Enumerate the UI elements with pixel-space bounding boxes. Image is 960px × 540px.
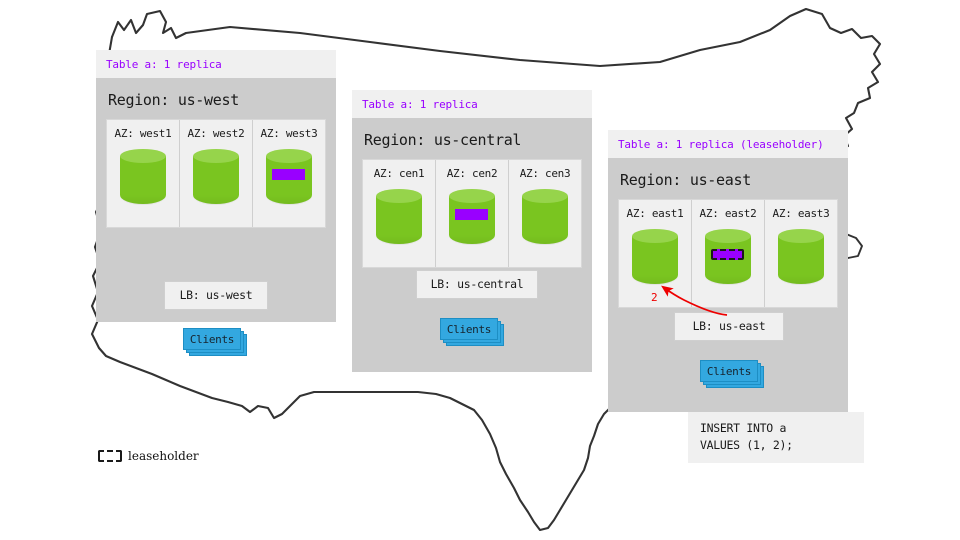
panel-title-us-west: Table a: 1 replica xyxy=(96,50,336,78)
az-label-cen2: AZ: cen2 xyxy=(436,167,508,180)
clients-button-us-east[interactable]: Clients xyxy=(700,360,762,386)
clients-sheet-front[interactable]: Clients xyxy=(700,360,758,382)
cylinder-top xyxy=(120,149,166,163)
node-cylinder-cen2[interactable] xyxy=(449,189,495,251)
cylinder-top xyxy=(632,229,678,243)
az-label-cen3: AZ: cen3 xyxy=(509,167,581,180)
panel-title-us-east: Table a: 1 replica (leaseholder) xyxy=(608,130,848,158)
cylinder-top xyxy=(705,229,751,243)
node-cylinder-west2[interactable] xyxy=(193,149,239,211)
cylinder-top xyxy=(376,189,422,203)
az-label-east3: AZ: east3 xyxy=(765,207,837,220)
panel-title-us-central: Table a: 1 replica xyxy=(352,90,592,118)
node-cylinder-east1[interactable] xyxy=(632,229,678,291)
region-panel-us-central: Table a: 1 replica Region: us-central AZ… xyxy=(352,90,592,372)
legend: leaseholder xyxy=(98,449,199,463)
cylinder-body xyxy=(705,236,751,284)
clients-sheet-front[interactable]: Clients xyxy=(440,318,498,340)
az-row-us-west: AZ: west1 AZ: west2 AZ: west3 xyxy=(106,119,326,228)
az-label-west3: AZ: west3 xyxy=(253,127,325,140)
leaseholder-marker-east2 xyxy=(711,249,744,260)
clients-label: Clients xyxy=(190,333,234,346)
leaseholder-swatch-icon xyxy=(98,450,122,462)
node-cylinder-east2[interactable] xyxy=(705,229,751,291)
region-panel-us-east: Table a: 1 replica (leaseholder) Region:… xyxy=(608,130,848,412)
az-label-west2: AZ: west2 xyxy=(180,127,252,140)
cylinder-body xyxy=(266,156,312,204)
clients-label: Clients xyxy=(447,323,491,336)
node-cylinder-cen1[interactable] xyxy=(376,189,422,251)
legend-label: leaseholder xyxy=(128,449,199,463)
cylinder-body xyxy=(632,236,678,284)
load-balancer-us-west[interactable]: LB: us-west xyxy=(164,281,268,310)
az-label-cen1: AZ: cen1 xyxy=(363,167,435,180)
region-label-us-central: Region: us-central xyxy=(352,118,592,159)
region-label-us-west: Region: us-west xyxy=(96,78,336,119)
az-cell-cen2[interactable]: AZ: cen2 xyxy=(436,160,509,267)
replica-marker-cen2 xyxy=(455,209,488,220)
cylinder-body xyxy=(449,196,495,244)
cylinder-top xyxy=(193,149,239,163)
cylinder-body xyxy=(376,196,422,244)
clients-button-us-central[interactable]: Clients xyxy=(440,318,502,344)
cylinder-body xyxy=(193,156,239,204)
arrow-step-label-2: 2 xyxy=(651,291,657,304)
node-cylinder-east3[interactable] xyxy=(778,229,824,291)
cylinder-top xyxy=(522,189,568,203)
cylinder-top xyxy=(778,229,824,243)
cylinder-body xyxy=(778,236,824,284)
az-cell-west2[interactable]: AZ: west2 xyxy=(180,120,253,227)
az-label-east2: AZ: east2 xyxy=(692,207,764,220)
clients-sheet-front[interactable]: Clients xyxy=(183,328,241,350)
node-cylinder-west1[interactable] xyxy=(120,149,166,211)
az-cell-cen1[interactable]: AZ: cen1 xyxy=(363,160,436,267)
node-cylinder-cen3[interactable] xyxy=(522,189,568,251)
cylinder-body xyxy=(120,156,166,204)
cylinder-top xyxy=(266,149,312,163)
az-cell-east2[interactable]: AZ: east2 xyxy=(692,200,765,307)
sql-statement-note: INSERT INTO a VALUES (1, 2); xyxy=(688,412,864,463)
az-cell-west3[interactable]: AZ: west3 xyxy=(253,120,325,227)
region-panel-us-west: Table a: 1 replica Region: us-west AZ: w… xyxy=(96,50,336,322)
cylinder-top xyxy=(449,189,495,203)
clients-label: Clients xyxy=(707,365,751,378)
az-cell-east3[interactable]: AZ: east3 xyxy=(765,200,837,307)
az-label-east1: AZ: east1 xyxy=(619,207,691,220)
clients-button-us-west[interactable]: Clients xyxy=(183,328,245,354)
az-label-west1: AZ: west1 xyxy=(107,127,179,140)
replica-marker-west3 xyxy=(272,169,305,180)
az-cell-cen3[interactable]: AZ: cen3 xyxy=(509,160,581,267)
az-row-us-central: AZ: cen1 AZ: cen2 AZ: cen3 xyxy=(362,159,582,268)
az-cell-west1[interactable]: AZ: west1 xyxy=(107,120,180,227)
diagram-canvas: Table a: 1 replica Region: us-west AZ: w… xyxy=(0,0,960,540)
load-balancer-us-east[interactable]: LB: us-east xyxy=(674,312,784,341)
cylinder-body xyxy=(522,196,568,244)
load-balancer-us-central[interactable]: LB: us-central xyxy=(416,270,538,299)
region-label-us-east: Region: us-east xyxy=(608,158,848,199)
node-cylinder-west3[interactable] xyxy=(266,149,312,211)
